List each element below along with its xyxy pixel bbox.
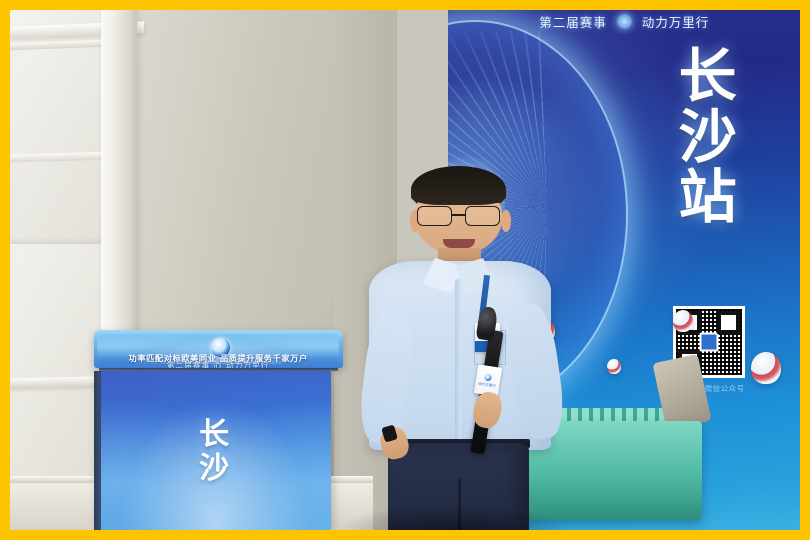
hot-air-balloon-icon — [751, 352, 781, 384]
eyeglass-lens-right — [465, 206, 500, 226]
heart-emblem-icon — [617, 14, 632, 29]
banner-right-text: 动力万里行 — [642, 12, 710, 31]
sponsor-logo-icon — [485, 374, 493, 382]
podium-front-panel: 长 沙 — [100, 371, 331, 530]
city-title-char: 站 — [663, 167, 754, 227]
podium-side-edge — [94, 371, 101, 530]
hot-air-balloon-icon — [607, 359, 621, 374]
shirt-placket — [455, 279, 462, 443]
microphone-flag-text: 动力万里行 — [478, 381, 497, 389]
backdrop-top-banner: 第二届赛事 动力万里行 — [448, 10, 800, 34]
eyeglass-bridge — [452, 214, 465, 216]
speaker-ear-right — [501, 210, 510, 232]
podium-city-char: 沙 — [100, 452, 331, 486]
floor-shadow — [334, 504, 571, 530]
podium-city-char: 长 — [100, 418, 331, 452]
stage-photo: 第二届赛事 动力万里行 长 沙 站 潍柴动力微信公众号 — [10, 10, 800, 530]
podium: 功率匹配对标欧美同业 品质提升服务千家万户 第二届赛事 心 动力万里行 长 沙 — [94, 330, 343, 530]
banner-left-text: 第二届赛事 — [539, 12, 607, 31]
qr-center-logo-icon — [699, 333, 718, 352]
speaker-eyebrow-right — [470, 199, 500, 203]
eyeglasses-icon — [417, 206, 500, 226]
podium-city-text: 长 沙 — [100, 418, 331, 485]
city-title-char: 沙 — [663, 107, 754, 167]
speaker-eyebrow-left — [420, 199, 450, 203]
backdrop-city-title: 长 沙 站 — [663, 46, 754, 227]
speaker: 动力万里行 — [366, 166, 556, 530]
eyeglass-lens-left — [417, 206, 452, 226]
speaker-mouth — [443, 239, 475, 248]
city-title-char: 长 — [663, 46, 754, 106]
photo-frame: 第二届赛事 动力万里行 长 沙 站 潍柴动力微信公众号 — [0, 0, 810, 540]
